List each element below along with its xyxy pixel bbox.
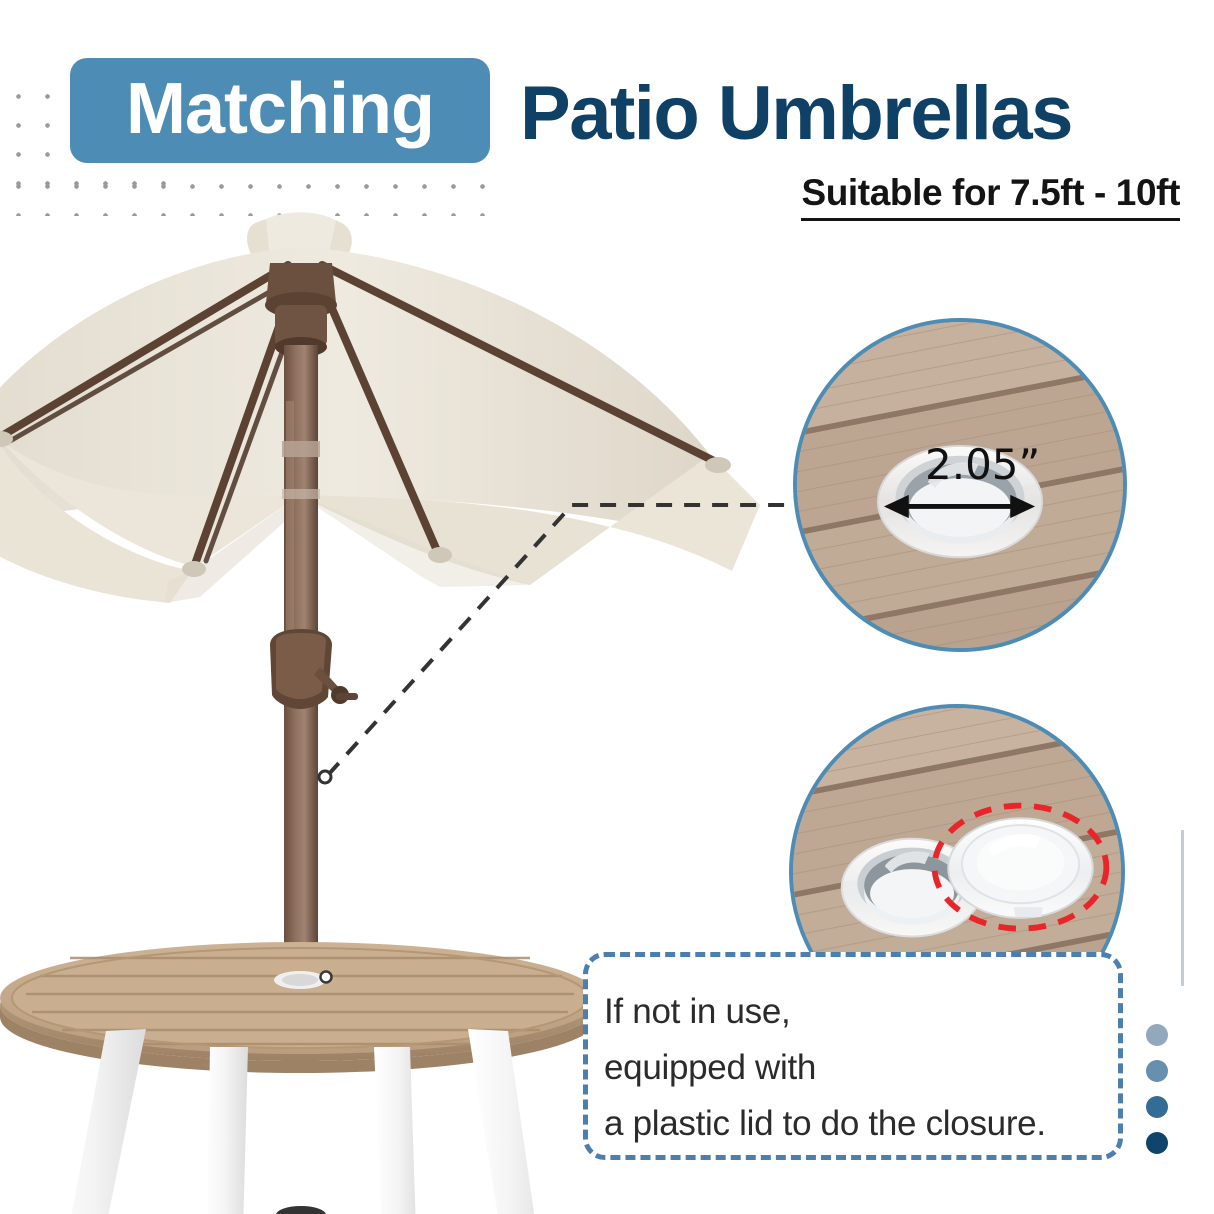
edge-dot-4 (1146, 1132, 1168, 1154)
edge-dot-1 (1146, 1024, 1168, 1046)
hole-dimension-label: 2.05” (925, 440, 1040, 489)
matching-badge-label: Matching (126, 73, 434, 145)
edge-dot-2 (1146, 1060, 1168, 1082)
edge-divider-line (1181, 830, 1184, 986)
matching-badge: Matching (70, 58, 490, 163)
edge-dot-3 (1146, 1096, 1168, 1118)
page-title: Patio Umbrellas (520, 62, 1180, 166)
caption-line-1: If not in use, (604, 984, 1124, 1040)
caption-line-2: equipped with (604, 1040, 1124, 1096)
caption-text: If not in use, equipped with a plastic l… (604, 984, 1124, 1152)
caption-line-3: a plastic lid to do the closure. (604, 1096, 1124, 1152)
infographic-canvas: Matching Patio Umbrellas Suitable for 7.… (0, 0, 1214, 1214)
page-subtitle-text: Suitable for 7.5ft - 10ft (801, 172, 1180, 221)
